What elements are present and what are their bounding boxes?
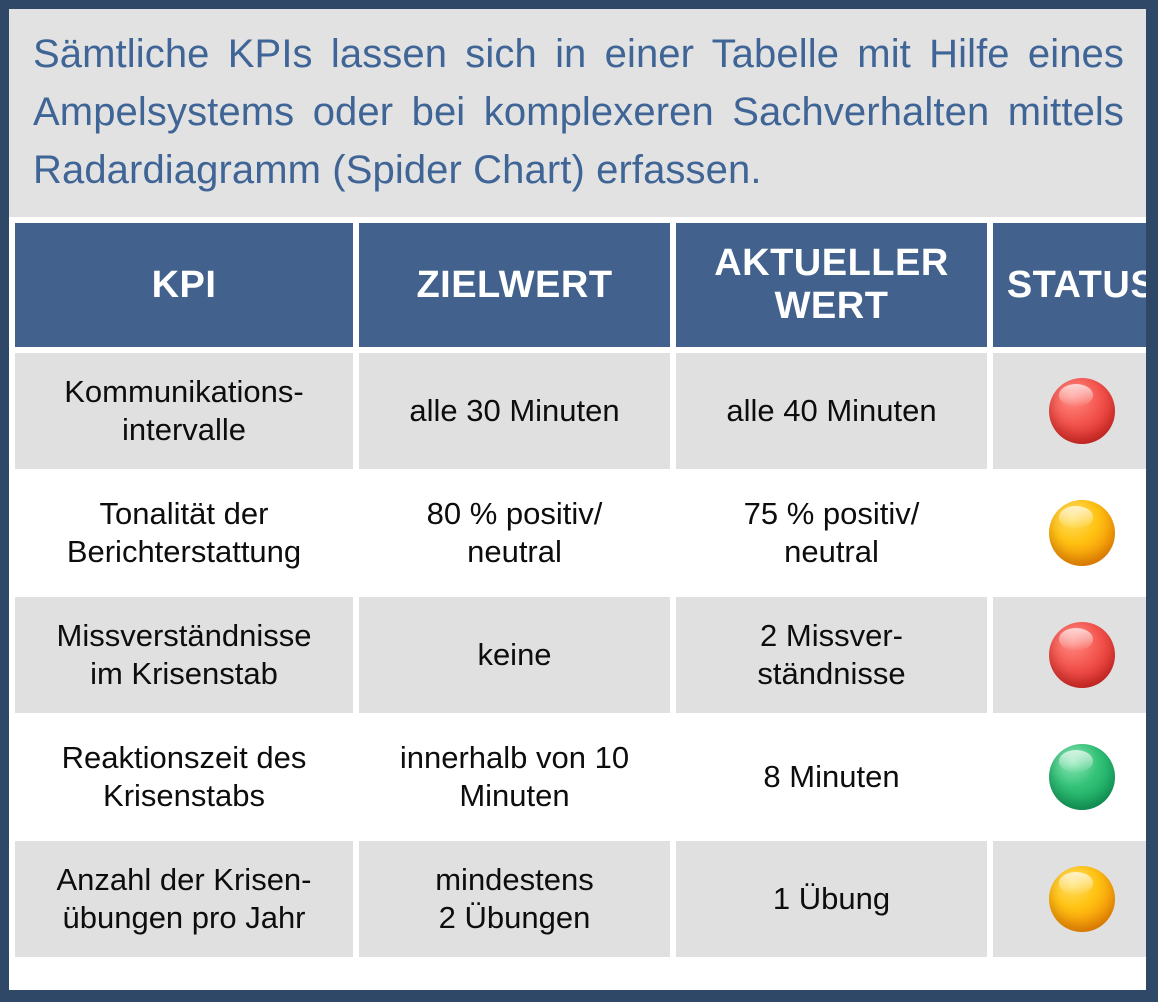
table-row: Missverständnisse im Krisenstab keine 2 … (15, 597, 1158, 713)
column-header-aktueller-wert-line-1: AKTUELLER (676, 242, 987, 285)
cell-status (993, 597, 1158, 713)
cell-status (993, 353, 1158, 469)
cell-kpi-line-2: intervalle (15, 411, 353, 449)
kpi-table: KPI ZIELWERT AKTUELLER WERT STATUS Kommu… (9, 217, 1158, 963)
cell-status (993, 841, 1158, 957)
intro-banner-text: Sämtliche KPIs lassen sich in einer Tabe… (33, 25, 1124, 199)
cell-kpi: Reaktionszeit des Krisenstabs (15, 719, 353, 835)
cell-aktueller-wert-line-1: 2 Missver- (676, 617, 987, 655)
cell-kpi-line-2: im Krisenstab (15, 655, 353, 693)
column-header-status: STATUS (993, 223, 1158, 347)
cell-aktueller-wert-line-1: alle 40 Minuten (676, 392, 987, 430)
cell-zielwert: keine (359, 597, 670, 713)
cell-kpi-line-2: Krisenstabs (15, 777, 353, 815)
column-header-zielwert: ZIELWERT (359, 223, 670, 347)
cell-status (993, 475, 1158, 591)
cell-zielwert-line-1: 80 % positiv/ (359, 495, 670, 533)
table-header-row: KPI ZIELWERT AKTUELLER WERT STATUS (15, 223, 1158, 347)
cell-kpi-line-1: Tonalität der (15, 495, 353, 533)
status-light-red-icon (1049, 378, 1115, 444)
cell-zielwert: 80 % positiv/ neutral (359, 475, 670, 591)
table-row: Reaktionszeit des Krisenstabs innerhalb … (15, 719, 1158, 835)
cell-aktueller-wert-line-1: 1 Übung (676, 880, 987, 918)
cell-kpi-line-2: Berichterstattung (15, 533, 353, 571)
cell-aktueller-wert: 75 % positiv/ neutral (676, 475, 987, 591)
cell-zielwert: innerhalb von 10 Minuten (359, 719, 670, 835)
status-light-amber-icon (1049, 866, 1115, 932)
table-row: Anzahl der Krisen- übungen pro Jahr mind… (15, 841, 1158, 957)
cell-kpi: Kommunikations- intervalle (15, 353, 353, 469)
cell-aktueller-wert-line-1: 8 Minuten (676, 758, 987, 796)
cell-aktueller-wert: 8 Minuten (676, 719, 987, 835)
table-row: Kommunikations- intervalle alle 30 Minut… (15, 353, 1158, 469)
cell-zielwert-line-1: alle 30 Minuten (359, 392, 670, 430)
column-header-aktueller-wert: AKTUELLER WERT (676, 223, 987, 347)
cell-aktueller-wert: 2 Missver- ständnisse (676, 597, 987, 713)
cell-zielwert-line-2: neutral (359, 533, 670, 571)
table-row: Tonalität der Berichterstattung 80 % pos… (15, 475, 1158, 591)
cell-kpi-line-1: Kommunikations- (15, 373, 353, 411)
intro-banner: Sämtliche KPIs lassen sich in einer Tabe… (9, 9, 1146, 217)
cell-kpi-line-1: Anzahl der Krisen- (15, 861, 353, 899)
status-light-green-icon (1049, 744, 1115, 810)
cell-aktueller-wert: alle 40 Minuten (676, 353, 987, 469)
cell-aktueller-wert-line-2: ständnisse (676, 655, 987, 693)
status-light-red-icon (1049, 622, 1115, 688)
cell-aktueller-wert-line-2: neutral (676, 533, 987, 571)
status-light-amber-icon (1049, 500, 1115, 566)
cell-aktueller-wert-line-1: 75 % positiv/ (676, 495, 987, 533)
cell-kpi: Missverständnisse im Krisenstab (15, 597, 353, 713)
cell-kpi-line-1: Reaktionszeit des (15, 739, 353, 777)
column-header-kpi: KPI (15, 223, 353, 347)
cell-status (993, 719, 1158, 835)
cell-zielwert: mindestens 2 Übungen (359, 841, 670, 957)
column-header-status-line-1: STATUS (1007, 264, 1156, 306)
cell-kpi-line-1: Missverständnisse (15, 617, 353, 655)
cell-kpi: Tonalität der Berichterstattung (15, 475, 353, 591)
cell-kpi-line-2: übungen pro Jahr (15, 899, 353, 937)
column-header-zielwert-line-1: ZIELWERT (416, 264, 612, 306)
cell-zielwert: alle 30 Minuten (359, 353, 670, 469)
cell-zielwert-line-1: mindestens (359, 861, 670, 899)
kpi-table-header: KPI ZIELWERT AKTUELLER WERT STATUS (15, 223, 1158, 347)
cell-zielwert-line-2: Minuten (359, 777, 670, 815)
cell-aktueller-wert: 1 Übung (676, 841, 987, 957)
kpi-ampel-slide: Sämtliche KPIs lassen sich in einer Tabe… (0, 0, 1158, 1002)
column-header-aktueller-wert-line-2: WERT (676, 285, 987, 328)
cell-kpi: Anzahl der Krisen- übungen pro Jahr (15, 841, 353, 957)
cell-zielwert-line-2: 2 Übungen (359, 899, 670, 937)
kpi-table-body: Kommunikations- intervalle alle 30 Minut… (15, 353, 1158, 957)
cell-zielwert-line-1: keine (359, 636, 670, 674)
cell-zielwert-line-1: innerhalb von 10 (359, 739, 670, 777)
column-header-kpi-line-1: KPI (152, 264, 217, 306)
